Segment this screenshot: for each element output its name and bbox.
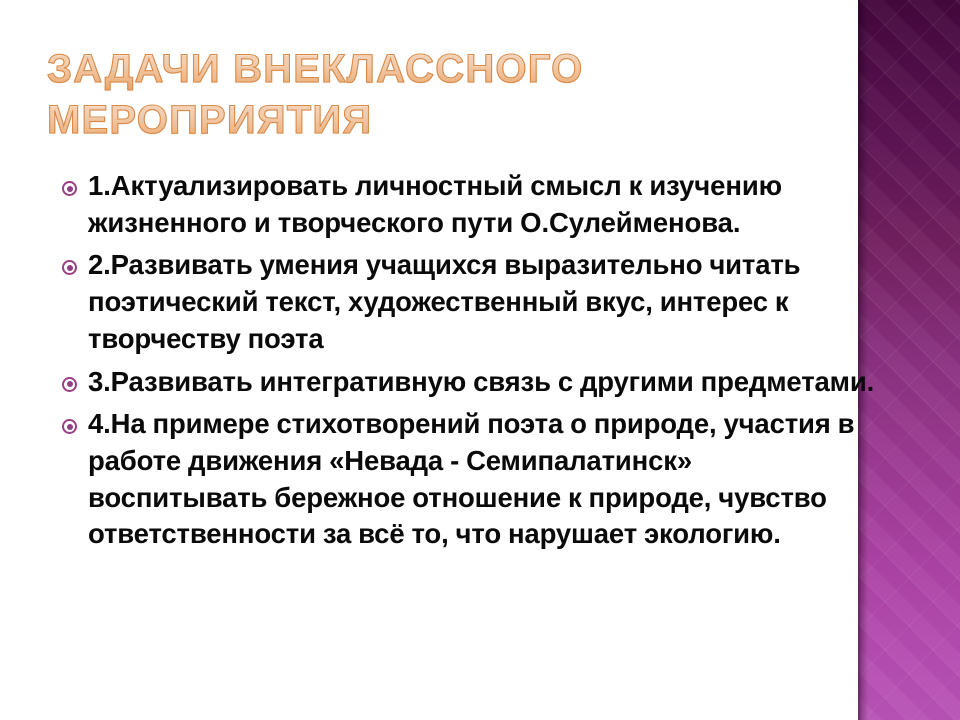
list-item: 3.Развивать интегративную связь с другим… [56, 364, 888, 401]
list-item: 4.На примере стихотворений поэта о приро… [56, 406, 878, 553]
ring-bullet-icon [62, 260, 77, 275]
list-item-number: 3. [88, 366, 111, 397]
list-item-number: 4. [88, 408, 111, 439]
slide-title: ЗАДАЧИ ВНЕКЛАССНОГО МЕРОПРИЯТИЯ [47, 44, 877, 146]
list-item-number: 1. [88, 170, 111, 201]
list-item: 1.Актуализировать личностный смысл к изу… [56, 168, 936, 241]
list-item: 2.Развивать умения учащихся выразительно… [56, 247, 888, 357]
slide-title-line-1: ЗАДАЧИ ВНЕКЛАССНОГО [47, 44, 877, 95]
slide: ЗАДАЧИ ВНЕКЛАССНОГО МЕРОПРИЯТИЯ 1.Актуал… [0, 0, 960, 720]
ring-bullet-icon [62, 181, 77, 196]
list-item-text: Актуализировать личностный смысл к изуче… [88, 170, 782, 238]
slide-title-line-2: МЕРОПРИЯТИЯ [47, 95, 877, 146]
list-item-number: 2. [88, 249, 111, 280]
objectives-list: 1.Актуализировать личностный смысл к изу… [56, 168, 936, 553]
list-item-text: Развивать интегративную связь с другими … [111, 366, 874, 397]
list-item-text: На примере стихотворений поэта о природе… [88, 408, 854, 549]
list-item-text: Развивать умения учащихся выразительно ч… [88, 249, 800, 353]
ring-bullet-icon [62, 419, 77, 434]
ring-bullet-icon [62, 377, 77, 392]
